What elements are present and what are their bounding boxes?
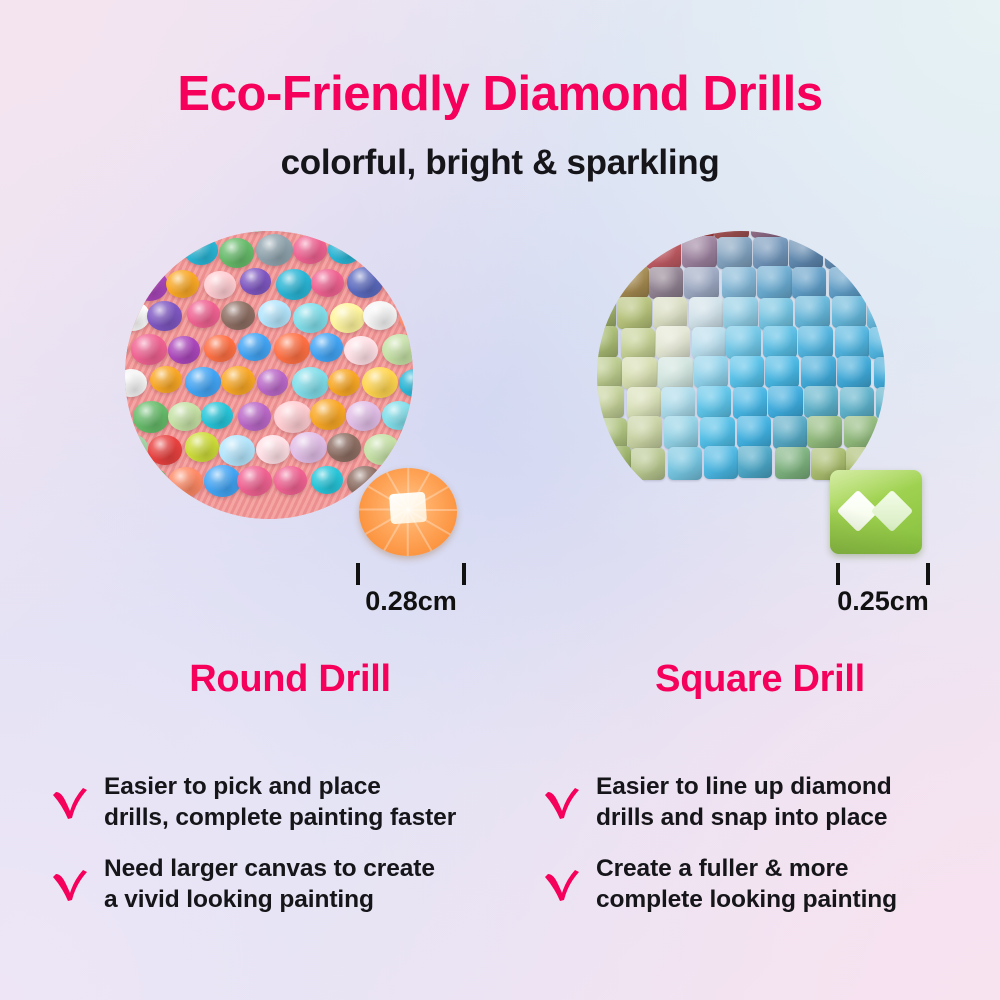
square-sheen-overlay [830, 470, 922, 554]
check-icon [48, 778, 94, 824]
page-subtitle: colorful, bright & sparkling [0, 143, 1000, 183]
feature-text: Create a fuller & more complete looking … [586, 854, 897, 916]
list-item: Easier to pick and place drills, complet… [48, 772, 518, 834]
square-drill-measurement-label: 0.25cm [837, 586, 929, 617]
ruler-cap-left [356, 563, 360, 585]
round-drill-feature-list: Easier to pick and place drills, complet… [48, 772, 518, 935]
page-title: Eco-Friendly Diamond Drills [0, 66, 1000, 122]
ruler-cap-left [836, 563, 840, 585]
ruler-cap-right [462, 563, 466, 585]
list-item: Easier to line up diamond drills and sna… [540, 772, 985, 834]
check-icon [540, 778, 586, 824]
list-item: Create a fuller & more complete looking … [540, 854, 985, 916]
list-item: Need larger canvas to create a vivid loo… [48, 854, 518, 916]
feature-text: Easier to line up diamond drills and sna… [586, 772, 892, 834]
round-drill-measurement-label: 0.28cm [365, 586, 457, 617]
square-drill-heading: Square Drill [560, 658, 960, 701]
orange-round-drill-closeup-icon [359, 468, 457, 556]
square-drill-feature-list: Easier to line up diamond drills and sna… [540, 772, 985, 935]
round-drill-heading: Round Drill [110, 658, 470, 701]
feature-text: Easier to pick and place drills, complet… [94, 772, 456, 834]
green-square-drill-closeup-icon [830, 470, 922, 554]
check-icon [540, 860, 586, 906]
check-icon [48, 860, 94, 906]
feature-text: Need larger canvas to create a vivid loo… [94, 854, 435, 916]
round-facet-lines [359, 468, 457, 556]
ruler-cap-right [926, 563, 930, 585]
